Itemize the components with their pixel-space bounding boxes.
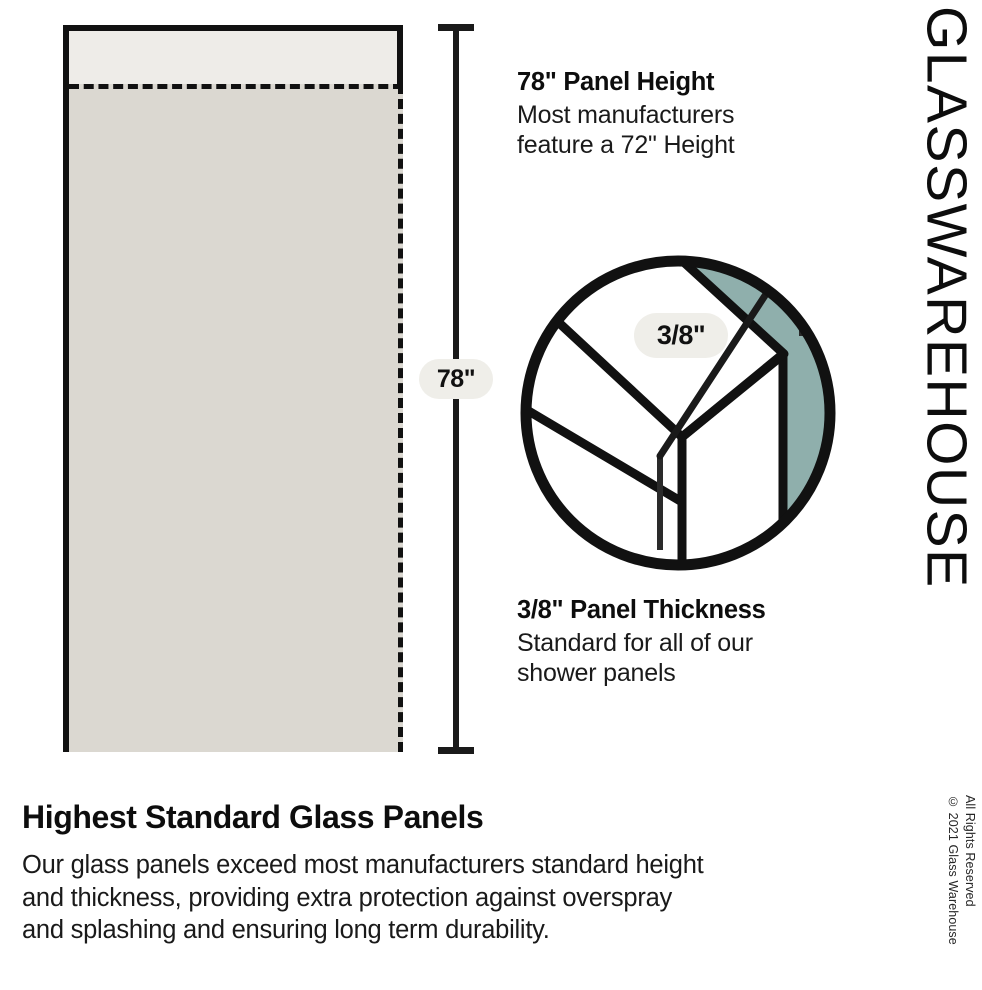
glass-panel-diagram [63,25,403,752]
brand-wordmark: GLASSWAREHOUSE [912,0,980,610]
callout-panel-thickness-line2: shower panels [517,658,897,689]
ruler-bottom-cap [438,747,474,754]
footer-body-line1: Our glass panels exceed most manufacture… [22,849,882,882]
callout-panel-thickness-line1: Standard for all of our [517,628,897,659]
copyright-line-2: All Rights Reserved [961,795,978,907]
callout-panel-thickness-title: 3/8" Panel Thickness [517,596,897,626]
height-dimension-badge: 78" [419,359,493,399]
panel-thickness-detail-illustration [512,244,844,586]
callout-panel-height-title: 78" Panel Height [517,68,897,98]
callout-panel-height-line2: feature a 72" Height [517,130,897,161]
footer-body-line2: and thickness, providing extra protectio… [22,882,882,915]
panel-standard-height-dashed-region [69,84,403,752]
copyright-notice: © 2021 Glass Warehouse All Rights Reserv… [944,795,978,975]
thickness-dimension-badge: 3/8" [634,313,728,358]
footer-heading: Highest Standard Glass Panels [22,800,882,835]
copyright-line-1: © 2021 Glass Warehouse [944,795,961,945]
footer-body-line3: and splashing and ensuring long term dur… [22,914,882,947]
callout-panel-height: 78" Panel Height Most manufacturers feat… [517,68,897,161]
callout-panel-thickness: 3/8" Panel Thickness Standard for all of… [517,596,897,689]
callout-panel-height-line1: Most manufacturers [517,100,897,131]
brand-wordmark-text: GLASSWAREHOUSE [918,6,975,589]
footer-text-block: Highest Standard Glass Panels Our glass … [22,800,882,947]
